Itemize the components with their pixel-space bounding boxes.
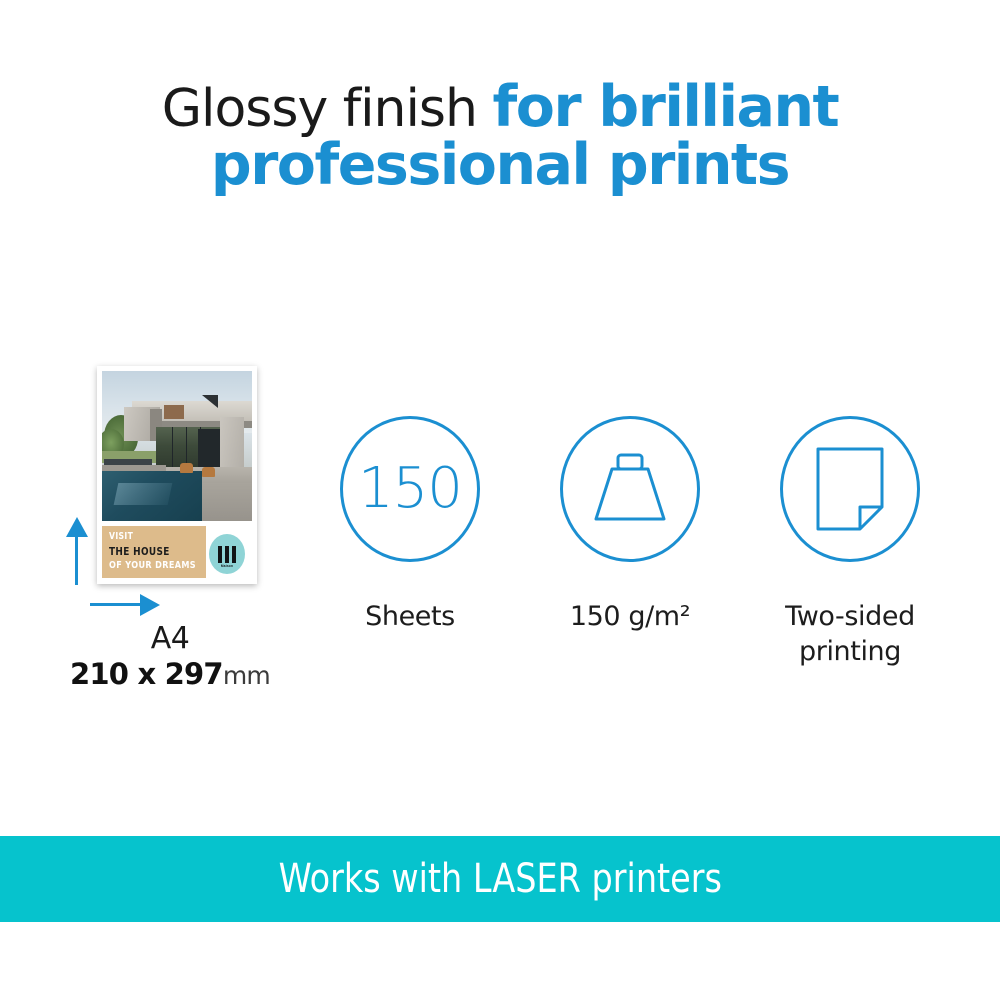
photo-lounge-chair: [180, 463, 193, 473]
product-size-block: VISIT THE HOUSE OF YOUR DREAMS Maison A4…: [44, 360, 296, 705]
feature-weight-label: 150 g/m²: [570, 600, 690, 635]
paper-size-name: A4: [44, 622, 296, 657]
feature-sheets: 150 Sheets: [300, 416, 520, 669]
banner-text: Works with LASER printers: [278, 856, 721, 902]
sheet-count-value: 150: [358, 461, 462, 517]
flyer-caption-line-1: VISIT: [109, 531, 133, 542]
paper-size-dimensions: 210 x 297mm: [44, 657, 296, 692]
three-bars-icon: [218, 546, 236, 563]
photo-recessed-bay: [198, 429, 220, 469]
photo-lounge-chair: [202, 467, 215, 477]
width-arrow-right-icon: [90, 594, 160, 616]
weight-circle: [560, 416, 700, 562]
flyer-logo-caption: Maison: [209, 564, 245, 568]
flyer-caption-line-2: THE HOUSE: [109, 545, 170, 558]
photo-wood-panel: [164, 405, 184, 419]
weight-icon: [588, 449, 672, 529]
feature-icon-row: 150 Sheets 150 g/m² Two-sided printing: [300, 416, 960, 669]
headline-line-1: Glossy finish for brilliant: [0, 78, 1000, 136]
headline-line-2: professional prints: [0, 136, 1000, 194]
headline: Glossy finish for brilliant professional…: [0, 78, 1000, 194]
paper-dimensions-unit: mm: [223, 661, 270, 690]
flyer-caption-band: VISIT THE HOUSE OF YOUR DREAMS: [102, 526, 206, 578]
paper-dimensions-value: 210 x 297: [70, 657, 223, 691]
headline-accent-text-2: professional prints: [211, 132, 789, 198]
feature-weight: 150 g/m²: [520, 416, 740, 669]
folded-page-icon: [812, 445, 888, 533]
feature-two-sided: Two-sided printing: [740, 416, 960, 669]
photo-mullion: [172, 427, 173, 469]
headline-accent-text-1: for brilliant: [493, 74, 839, 140]
height-arrow-up-icon: [66, 517, 88, 585]
two-sided-circle: [780, 416, 920, 562]
flyer-sample-image: VISIT THE HOUSE OF YOUR DREAMS Maison: [97, 366, 257, 584]
sheet-count-circle-icon: 150: [340, 416, 480, 562]
feature-sheets-label: Sheets: [365, 600, 455, 635]
feature-two-sided-label: Two-sided printing: [740, 600, 960, 669]
flyer-caption-line-3: OF YOUR DREAMS: [109, 560, 196, 571]
flyer-logo-badge: Maison: [209, 534, 245, 574]
headline-plain-text: Glossy finish: [162, 79, 477, 139]
paper-size-label: A4 210 x 297mm: [44, 622, 296, 691]
laser-compatibility-banner: Works with LASER printers: [0, 836, 1000, 922]
photo-pool-reflection: [114, 483, 173, 505]
flyer-photograph: [102, 371, 252, 521]
